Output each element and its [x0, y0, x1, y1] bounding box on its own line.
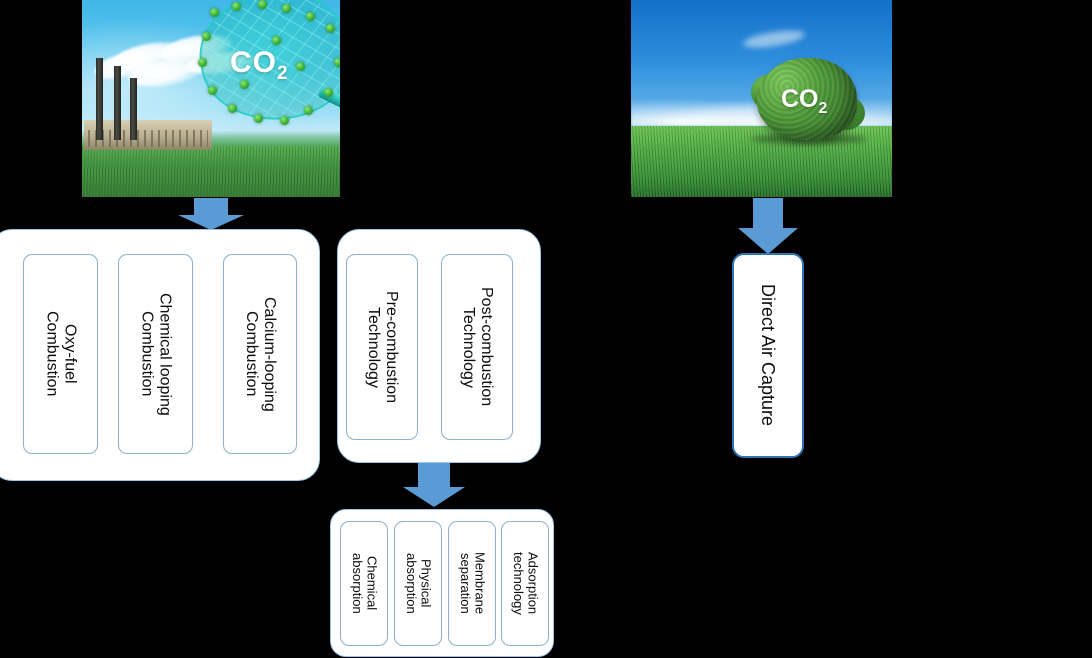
power-plant-building — [84, 120, 212, 150]
co2-molecule-dot — [198, 58, 207, 67]
smokestack — [96, 58, 103, 140]
co2-molecule-dot — [326, 24, 335, 33]
arrow-air-to-dac — [738, 198, 798, 254]
box-label: Calcium-looping Combustion — [242, 297, 278, 412]
co2-molecule-dot — [202, 32, 211, 41]
box-chemical-looping-combustion[interactable]: Chemical looping Combustion — [118, 254, 193, 454]
diagram-canvas: CO2 CO2 Oxy-fuel Combustion Chemical loo… — [0, 0, 1092, 658]
co2-molecule-dot — [282, 4, 291, 13]
co2-sub: 2 — [819, 100, 828, 117]
separation-methods-group: Chemical absorption Physical absorption … — [330, 509, 554, 657]
box-physical-absorption[interactable]: Physical absorption — [394, 521, 442, 646]
box-calcium-looping-combustion[interactable]: Calcium-looping Combustion — [223, 254, 297, 454]
box-oxy-fuel-combustion[interactable]: Oxy-fuel Combustion — [23, 254, 98, 454]
co2-main: CO — [230, 46, 277, 79]
box-label: Membrane separation — [457, 552, 486, 614]
arrow-shaft — [418, 463, 450, 487]
arrow-head — [403, 487, 465, 507]
co2-molecule-dot — [324, 88, 333, 97]
co2-molecule-dot — [296, 62, 305, 71]
box-label: Direct Air Capture — [758, 284, 778, 426]
box-post-combustion-technology[interactable]: Post-combustion Technology — [441, 254, 513, 440]
box-pre-combustion-technology[interactable]: Pre-combustion Technology — [346, 254, 418, 440]
pre-post-combustion-group: Pre-combustion Technology Post-combustio… — [337, 229, 541, 463]
arrow-shaft — [194, 198, 228, 215]
co2-molecule-dot — [208, 86, 217, 95]
box-direct-air-capture[interactable]: Direct Air Capture — [732, 253, 804, 458]
co2-main: CO — [781, 85, 819, 113]
co2-text-overlay: CO2 — [781, 85, 827, 118]
co2-molecule-dot — [304, 106, 313, 115]
co2-molecule-dot — [228, 104, 237, 113]
box-adsorption-technology[interactable]: Adsorption technology — [501, 521, 549, 646]
arrow-shaft — [753, 198, 783, 228]
arrow-flue-to-combustion — [178, 198, 244, 230]
arrow-head — [178, 215, 244, 230]
arrow-prepost-to-separation — [403, 463, 465, 507]
box-label: Adsorption technology — [510, 552, 539, 615]
green-field-co2-bush-photo: CO2 — [631, 0, 892, 197]
box-label: Oxy-fuel Combustion — [43, 311, 79, 396]
co2-molecule-dot — [272, 36, 281, 45]
co2-molecule-dot — [334, 58, 340, 67]
box-label: Pre-combustion Technology — [364, 291, 400, 403]
co2-molecule-dot — [210, 8, 219, 17]
cloud-wisp — [742, 27, 805, 51]
box-label: Physical absorption — [403, 553, 432, 614]
box-label: Chemical absorption — [349, 553, 378, 614]
box-label: Post-combustion Technology — [459, 287, 495, 406]
arrow-head — [738, 228, 798, 254]
smokestack — [130, 78, 137, 140]
combustion-capture-group: Oxy-fuel Combustion Chemical looping Com… — [0, 229, 320, 481]
co2-molecule-dot — [232, 2, 241, 11]
co2-molecule-dot — [254, 114, 263, 123]
grass-strip — [82, 146, 340, 197]
smokestack — [114, 66, 121, 140]
co2-text-overlay: CO2 — [230, 46, 289, 85]
power-plant-co2-net-photo: CO2 — [82, 0, 340, 197]
box-label: Chemical looping Combustion — [138, 293, 174, 416]
box-membrane-separation[interactable]: Membrane separation — [448, 521, 496, 646]
co2-sub: 2 — [277, 63, 289, 84]
co2-molecule-dot — [306, 12, 315, 21]
co2-molecule-dot — [258, 0, 267, 9]
co2-molecule-dot — [280, 116, 289, 125]
box-chemical-absorption[interactable]: Chemical absorption — [340, 521, 388, 646]
